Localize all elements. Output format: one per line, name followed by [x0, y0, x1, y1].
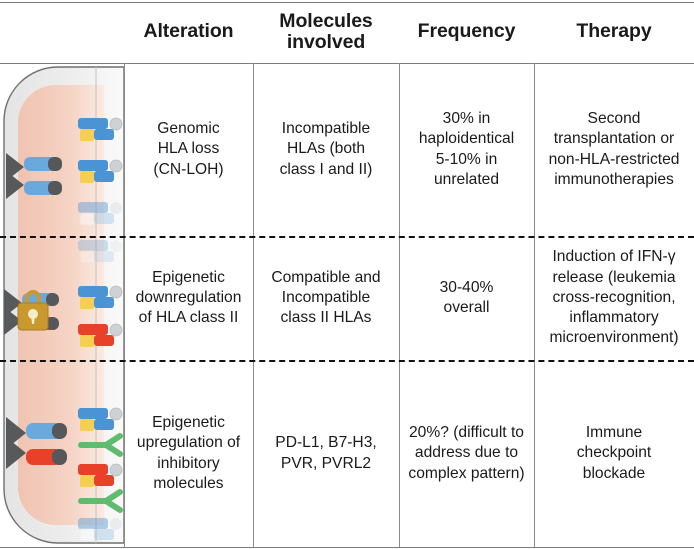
- text-line: inhibitory: [157, 455, 219, 472]
- cell-alteration: Genomic HLA loss (CN-LOH): [124, 63, 253, 236]
- text-line: immunotherapies: [554, 171, 674, 188]
- text-line: downregulation: [136, 289, 242, 306]
- text-line: address due to: [415, 444, 518, 461]
- text-line: Immune: [586, 424, 642, 441]
- text-line: upregulation of: [137, 434, 240, 451]
- text-line: (CN-LOH): [153, 161, 223, 178]
- header-therapy: Therapy: [534, 0, 694, 64]
- text-line: 20%? (difficult to: [409, 424, 524, 441]
- text-line: PD-L1, B7-H3,: [275, 434, 376, 451]
- text-line: transplantation or: [554, 130, 675, 147]
- text-line: complex pattern): [408, 465, 524, 482]
- text-line: Genomic: [157, 120, 219, 137]
- text-line: HLAs (both: [287, 140, 365, 157]
- cell-illustration-panel: [0, 63, 124, 547]
- text-line: inflammatory: [569, 309, 658, 326]
- text-line: Incompatible: [282, 289, 370, 306]
- text-line: Incompatible: [282, 120, 370, 137]
- cell-molecules: Incompatible HLAs (both class I and II): [253, 63, 399, 236]
- text-line: 5-10% in: [436, 151, 498, 168]
- text-line: Compatible and: [271, 269, 380, 286]
- text-line: class I and II): [280, 161, 373, 178]
- header-molecules-line1: Molecules: [279, 10, 372, 32]
- text-line: non-HLA-restricted: [549, 151, 680, 168]
- text-line: release (leukemia: [552, 269, 675, 286]
- text-line: 30% in: [443, 110, 491, 127]
- text-line: Induction of IFN-γ: [552, 248, 675, 265]
- text-line: Second: [588, 110, 641, 127]
- text-line: Epigenetic: [152, 269, 225, 286]
- text-line: blockade: [583, 465, 645, 482]
- text-line: overall: [444, 299, 490, 316]
- header-alteration: Alteration: [124, 0, 253, 64]
- table-row: Genomic HLA loss (CN-LOH) Incompatible H…: [124, 63, 694, 236]
- table-header-row: Alteration Molecules involved Frequency …: [0, 0, 694, 64]
- header-frequency: Frequency: [399, 0, 534, 64]
- figure-root: Alteration Molecules involved Frequency …: [0, 0, 694, 549]
- cell-molecules: Compatible and Incompatible class II HLA…: [253, 236, 399, 360]
- table-row: Epigenetic upregulation of inhibitory mo…: [124, 360, 694, 547]
- cell-frequency: 30-40% overall: [399, 236, 534, 360]
- text-line: 30-40%: [440, 279, 494, 296]
- bottom-border: [0, 547, 694, 548]
- text-line: haploidentical: [419, 130, 514, 147]
- text-line: cross-recognition,: [552, 289, 675, 306]
- cell-therapy: Induction of IFN-γ release (leukemia cro…: [534, 236, 694, 360]
- header-molecules-involved: Molecules involved: [253, 0, 399, 64]
- cell-alteration: Epigenetic upregulation of inhibitory mo…: [124, 360, 253, 547]
- table-body: Genomic HLA loss (CN-LOH) Incompatible H…: [124, 63, 694, 547]
- text-line: HLA loss: [158, 140, 220, 157]
- text-line: unrelated: [434, 171, 499, 188]
- cell-therapy: Second transplantation or non-HLA-restri…: [534, 63, 694, 236]
- cell-therapy: Immune checkpoint blockade: [534, 360, 694, 547]
- text-line: Epigenetic: [152, 414, 225, 431]
- text-line: molecules: [153, 475, 223, 492]
- text-line: checkpoint: [577, 444, 652, 461]
- cell-illustration-svg: [0, 63, 124, 547]
- cell-frequency: 20%? (difficult to address due to comple…: [399, 360, 534, 547]
- text-line: microenvironment): [549, 329, 678, 346]
- text-line: of HLA class II: [139, 309, 239, 326]
- cell-alteration: Epigenetic downregulation of HLA class I…: [124, 236, 253, 360]
- table-row: Epigenetic downregulation of HLA class I…: [124, 236, 694, 360]
- top-border: [0, 2, 694, 3]
- cell-frequency: 30% in haploidentical 5-10% in unrelated: [399, 63, 534, 236]
- text-line: PVR, PVRL2: [281, 455, 371, 472]
- header-molecules-line2: involved: [287, 31, 365, 53]
- text-line: class II HLAs: [280, 309, 371, 326]
- header-illustration-spacer: [0, 0, 124, 64]
- cell-molecules: PD-L1, B7-H3, PVR, PVRL2: [253, 360, 399, 547]
